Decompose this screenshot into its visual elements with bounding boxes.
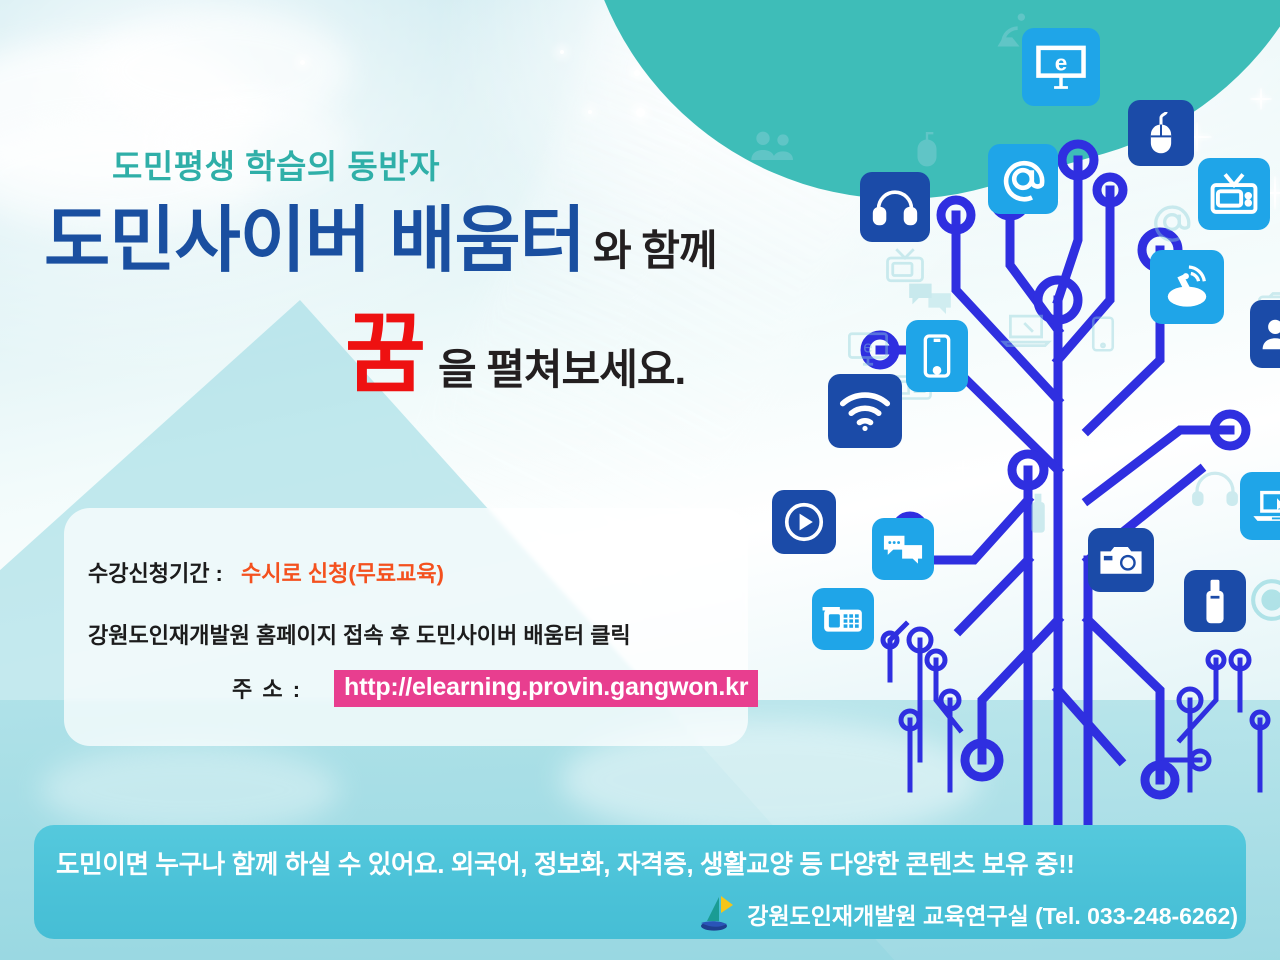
e-monitor-icon: e — [846, 330, 890, 373]
play-button-icon — [1248, 576, 1280, 629]
smartphone-icon — [906, 320, 968, 392]
users-icon — [748, 128, 798, 167]
enrollment-period-value: 수시로 신청(무료교육) — [241, 561, 444, 586]
smartphone-icon — [1090, 314, 1116, 359]
camera-icon — [1088, 528, 1154, 592]
svg-text:e: e — [863, 337, 872, 356]
e-monitor-icon: e — [1022, 28, 1100, 106]
main-title-row: 도민사이버 배움터 와 함께 — [44, 205, 717, 278]
usb-drive-icon — [1026, 492, 1050, 541]
light-dot — [300, 60, 305, 65]
tagline: 도민평생 학습의 동반자 — [112, 140, 440, 188]
cloud-shape — [40, 745, 340, 835]
light-dot — [588, 110, 592, 114]
instruction-line: 강원도인재개발원 홈페이지 접속 후 도민사이버 배움터 클릭 — [88, 618, 631, 650]
sailboat-logo-icon — [695, 893, 737, 935]
enrollment-period-label: 수강신청기간 : — [88, 561, 223, 586]
at-sign-icon — [1150, 200, 1194, 249]
organization-text: 강원도인재개발원 교육연구실 (Tel. 033-248-6262) — [747, 897, 1238, 931]
wifi-icon — [828, 374, 902, 448]
tv-icon — [1198, 158, 1270, 230]
usb-drive-icon — [1184, 570, 1246, 632]
dream-row: 꿈 을 펼쳐보세요. — [345, 310, 685, 398]
title-suffix: 와 함께 — [593, 217, 717, 278]
desk-phone-icon — [812, 588, 874, 650]
computer-mouse-icon — [1128, 100, 1194, 166]
svg-text:e: e — [1055, 50, 1068, 75]
light-dot — [634, 70, 640, 76]
satellite-dish-icon — [1150, 250, 1224, 324]
chat-bubbles-icon — [872, 518, 934, 580]
headphones-icon — [860, 172, 930, 242]
light-dot — [636, 108, 645, 117]
play-button-icon — [772, 490, 836, 554]
users-icon — [1250, 300, 1280, 368]
organization-credit: 강원도인재개발원 교육연구실 (Tel. 033-248-6262) — [695, 893, 1238, 935]
banner-message: 도민이면 누구나 함께 하실 수 있어요. 외국어, 정보화, 자격증, 생활교… — [56, 844, 1236, 881]
technology-tree-graphic: e — [760, 0, 1280, 838]
at-sign-icon — [988, 144, 1058, 214]
address-label: 주 소 : — [232, 672, 302, 704]
dream-accent-word: 꿈 — [345, 310, 424, 398]
laptop-icon — [1000, 310, 1052, 355]
headphones-icon — [1190, 470, 1240, 511]
page-title: 도민사이버 배움터 — [44, 205, 585, 277]
enrollment-period-line: 수강신청기간 : 수시로 신청(무료교육) — [88, 556, 444, 588]
poster-canvas: e — [0, 0, 1280, 960]
dream-tail-text: 을 펼쳐보세요. — [438, 336, 685, 397]
laptop-icon — [1240, 472, 1280, 540]
chat-bubbles-icon — [906, 278, 954, 323]
website-url-link[interactable]: http://elearning.provin.gangwon.kr — [334, 670, 758, 707]
computer-mouse-icon — [912, 130, 942, 173]
light-dot — [560, 50, 564, 54]
